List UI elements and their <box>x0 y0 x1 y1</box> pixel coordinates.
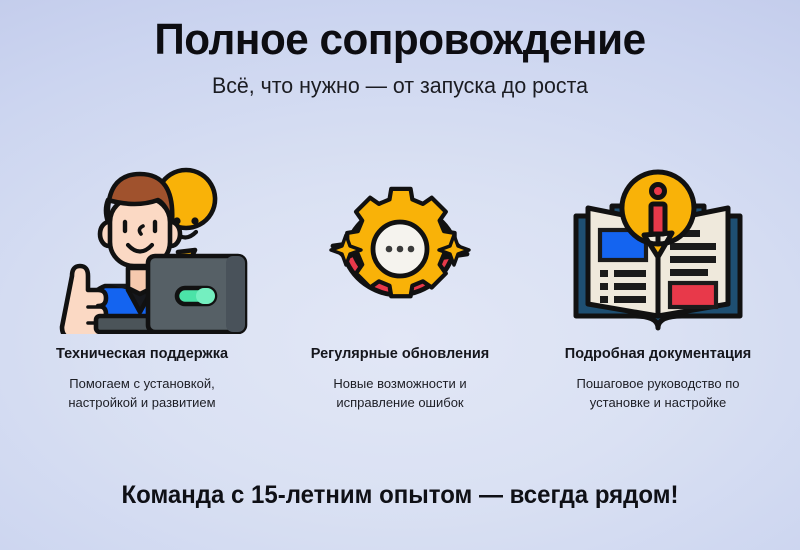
footer-tagline: Команда с 15-летним опытом — всегда рядо… <box>16 481 784 510</box>
page-subtitle: Всё, что нужно — от запуска до роста <box>12 73 788 99</box>
gear-refresh-arrows-icon <box>305 162 495 334</box>
page-title: Полное сопровождение <box>16 16 784 64</box>
feature-description: Помогаем с установкой, настройкой и разв… <box>68 375 215 413</box>
feature-column-support: Техническая поддержка Помогаем с установ… <box>13 162 271 413</box>
open-book-info-icon <box>558 162 758 334</box>
feature-title: Подробная документация <box>565 346 751 362</box>
feature-description: Новые возможности и исправление ошибок <box>333 375 466 413</box>
feature-column-updates: Регулярные обновления Новые возможности … <box>271 162 529 413</box>
support-agent-laptop-icon <box>36 162 248 334</box>
features-row: Техническая поддержка Помогаем с установ… <box>0 162 800 413</box>
feature-title: Регулярные обновления <box>311 346 489 362</box>
poster-header: Полное сопровождение Всё, что нужно — от… <box>0 16 800 99</box>
poster-canvas: Полное сопровождение Всё, что нужно — от… <box>0 0 800 550</box>
feature-description: Пошаговое руководство по установке и нас… <box>576 375 739 413</box>
feature-title: Техническая поддержка <box>56 346 228 362</box>
poster-footer: Команда с 15-летним опытом — всегда рядо… <box>0 481 800 510</box>
feature-column-docs: Подробная документация Пошаговое руковод… <box>529 162 787 413</box>
